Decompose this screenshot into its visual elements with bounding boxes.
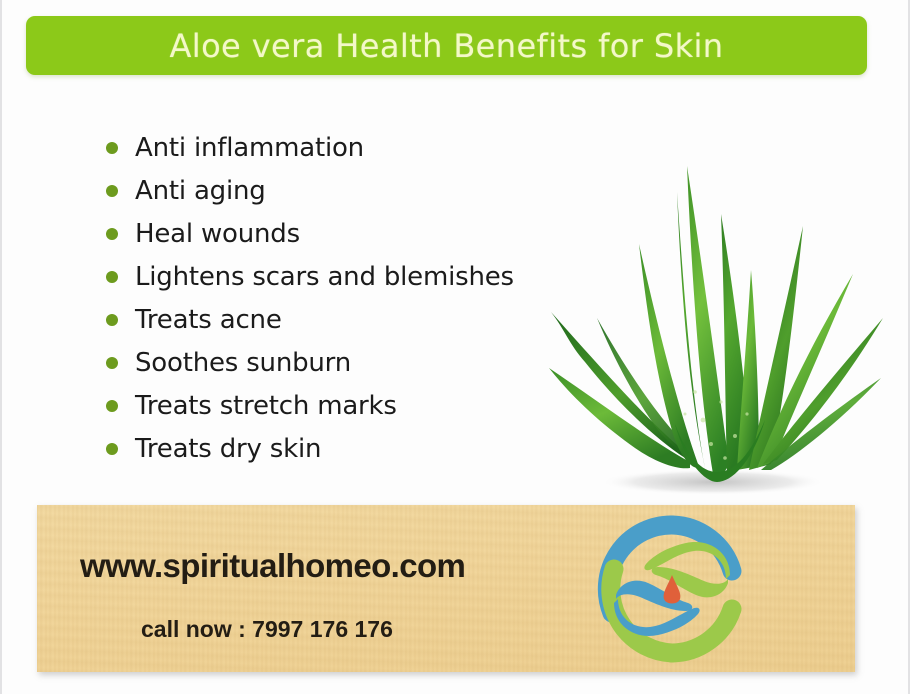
bullet-dot-icon	[106, 357, 118, 369]
list-item: Soothes sunburn	[106, 341, 546, 384]
list-item: Treats acne	[106, 298, 546, 341]
list-item: Treats stretch marks	[106, 384, 546, 427]
bullet-dot-icon	[106, 142, 118, 154]
bullet-dot-icon	[106, 185, 118, 197]
page-title: Aloe vera Health Benefits for Skin	[170, 27, 724, 65]
bullet-dot-icon	[106, 228, 118, 240]
brand-logo	[592, 513, 752, 665]
website-url[interactable]: www.spiritualhomeo.com	[80, 547, 465, 585]
list-item: Anti aging	[106, 169, 546, 212]
footer-banner: www.spiritualhomeo.com call now : 7997 1…	[37, 505, 855, 672]
bullet-dot-icon	[106, 314, 118, 326]
bullet-dot-icon	[106, 271, 118, 283]
poster-root: Aloe vera Health Benefits for Skin Anti …	[0, 0, 910, 694]
benefit-label: Anti inflammation	[135, 133, 364, 163]
list-item: Heal wounds	[106, 212, 546, 255]
title-banner: Aloe vera Health Benefits for Skin	[26, 16, 867, 75]
benefit-label: Treats stretch marks	[135, 391, 397, 421]
aloe-vera-plant-image	[535, 152, 895, 497]
benefit-label: Lightens scars and blemishes	[135, 262, 514, 292]
benefit-label: Soothes sunburn	[135, 348, 351, 378]
benefit-label: Treats dry skin	[135, 434, 321, 464]
bullet-dot-icon	[106, 400, 118, 412]
bullet-dot-icon	[106, 443, 118, 455]
benefit-label: Treats acne	[135, 305, 282, 335]
benefit-label: Anti aging	[135, 176, 266, 206]
phone-number[interactable]: call now : 7997 176 176	[141, 616, 393, 643]
list-item: Lightens scars and blemishes	[106, 255, 546, 298]
benefit-label: Heal wounds	[135, 219, 300, 249]
benefits-list: Anti inflammation Anti aging Heal wounds…	[106, 126, 546, 470]
list-item: Treats dry skin	[106, 427, 546, 470]
list-item: Anti inflammation	[106, 126, 546, 169]
